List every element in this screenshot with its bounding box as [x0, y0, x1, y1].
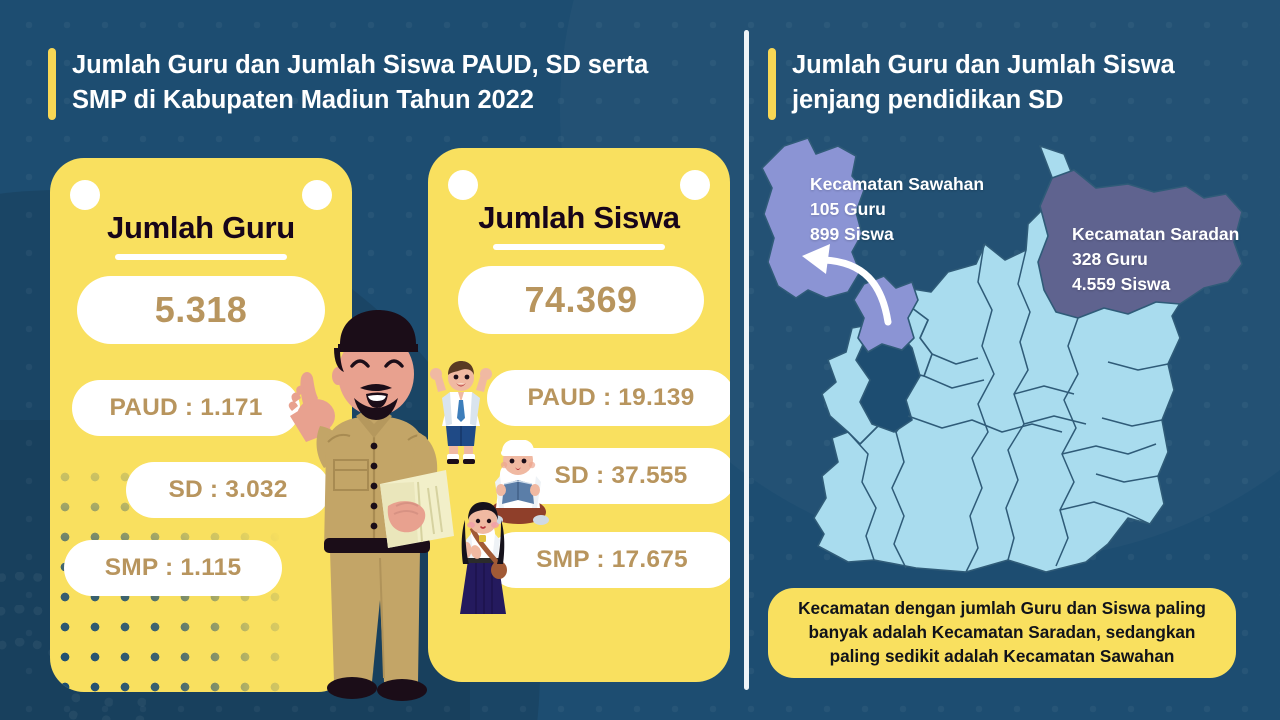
card-punch-hole-left: [70, 180, 100, 210]
title-accent-bar: [48, 48, 56, 120]
left-title: Jumlah Guru dan Jumlah Siswa PAUD, SD se…: [48, 48, 708, 120]
map-district-sawahan-actual: [854, 276, 918, 352]
right-title-text: Jumlah Guru dan Jumlah Siswa jenjang pen…: [792, 48, 1175, 120]
title-accent-bar: [768, 48, 776, 120]
section-divider: [744, 30, 749, 690]
schoolgirl-illustration: [452, 502, 514, 620]
card-punch-hole-right: [302, 180, 332, 210]
infographic-canvas: Jumlah Guru dan Jumlah Siswa PAUD, SD se…: [0, 0, 1280, 720]
summary-callout-text: Kecamatan dengan jumlah Guru dan Siswa p…: [798, 597, 1206, 668]
siswa-total-value: 74.369: [458, 266, 704, 334]
card-title-guru: Jumlah Guru: [50, 210, 352, 246]
siswa-smp-value: SMP : 17.675: [488, 532, 730, 588]
summary-callout: Kecamatan dengan jumlah Guru dan Siswa p…: [768, 588, 1236, 678]
guru-paud-value: PAUD : 1.171: [72, 380, 300, 436]
right-title: Jumlah Guru dan Jumlah Siswa jenjang pen…: [768, 48, 1238, 120]
guru-smp-value: SMP : 1.115: [64, 540, 282, 596]
map-label-sawahan: Kecamatan Sawahan 105 Guru 899 Siswa: [810, 172, 984, 247]
card-title-siswa: Jumlah Siswa: [428, 200, 730, 236]
card-punch-hole-left: [448, 170, 478, 200]
left-title-text: Jumlah Guru dan Jumlah Siswa PAUD, SD se…: [72, 48, 648, 120]
card-title-underline: [493, 244, 665, 250]
map-label-saradan: Kecamatan Saradan 328 Guru 4.559 Siswa: [1072, 222, 1239, 297]
card-title-underline: [115, 254, 287, 260]
siswa-paud-value: PAUD : 19.139: [487, 370, 730, 426]
card-punch-hole-right: [680, 170, 710, 200]
